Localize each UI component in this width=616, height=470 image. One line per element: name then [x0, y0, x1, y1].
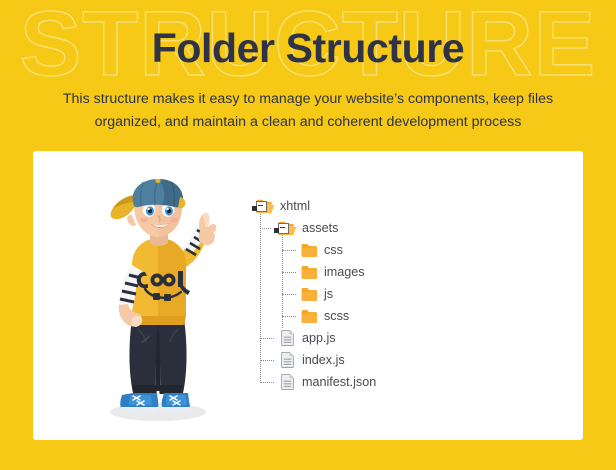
tree-toggle-assets-arm: [274, 228, 279, 233]
boy-character-illustration: [88, 179, 228, 427]
tree-stub-indexjs: [260, 360, 274, 361]
tree-stub-manifest: [260, 382, 274, 383]
tree-item-label: scss: [324, 309, 349, 324]
tree-toggle-xhtml[interactable]: [256, 201, 267, 212]
file-icon: [277, 374, 297, 390]
tree-toggle-assets[interactable]: [278, 223, 289, 234]
tree-item-label: manifest.json: [302, 375, 376, 390]
tree-item-label: app.js: [302, 331, 336, 346]
tree-stub-appjs: [260, 338, 274, 339]
file-icon: [277, 352, 297, 368]
tree-stub-js: [282, 294, 296, 295]
tree-item-label: images: [324, 265, 365, 280]
tree-item-scss[interactable]: scss: [233, 305, 553, 327]
tree-item-label: css: [324, 243, 343, 258]
tree-stub-images: [282, 272, 296, 273]
tree-item-label: js: [324, 287, 333, 302]
tree-item-app-js[interactable]: app.js: [233, 327, 553, 349]
folder-closed-icon: [299, 308, 319, 324]
folder-closed-icon: [299, 264, 319, 280]
content-card: xhtml assets css: [33, 151, 583, 440]
tree-item-js[interactable]: js: [233, 283, 553, 305]
page-title: Folder Structure: [0, 24, 616, 72]
tree-item-xhtml[interactable]: xhtml: [233, 195, 553, 217]
tree-stub-css: [282, 250, 296, 251]
tree-connector-assets: [282, 228, 283, 328]
tree-toggle-xhtml-arm: [252, 206, 257, 211]
tree-stub-assets: [260, 228, 271, 229]
page-subtitle: This structure makes it easy to manage y…: [30, 88, 586, 134]
tree-connector-root: [260, 206, 261, 367]
tree-item-images[interactable]: images: [233, 261, 553, 283]
tree-item-label: index.js: [302, 353, 345, 368]
tree-stub-scss: [282, 316, 296, 317]
folder-tree: xhtml assets css: [233, 195, 553, 393]
folder-closed-icon: [299, 242, 319, 258]
tree-item-css[interactable]: css: [233, 239, 553, 261]
tree-item-label: assets: [302, 221, 338, 236]
tree-item-label: xhtml: [280, 199, 310, 214]
tree-item-manifest-json[interactable]: manifest.json: [233, 371, 553, 393]
folder-closed-icon: [299, 286, 319, 302]
header-banner: STRUCTURE Folder Structure This structur…: [0, 0, 616, 151]
file-icon: [277, 330, 297, 346]
tree-item-index-js[interactable]: index.js: [233, 349, 553, 371]
tree-connector-tail: [260, 360, 261, 383]
